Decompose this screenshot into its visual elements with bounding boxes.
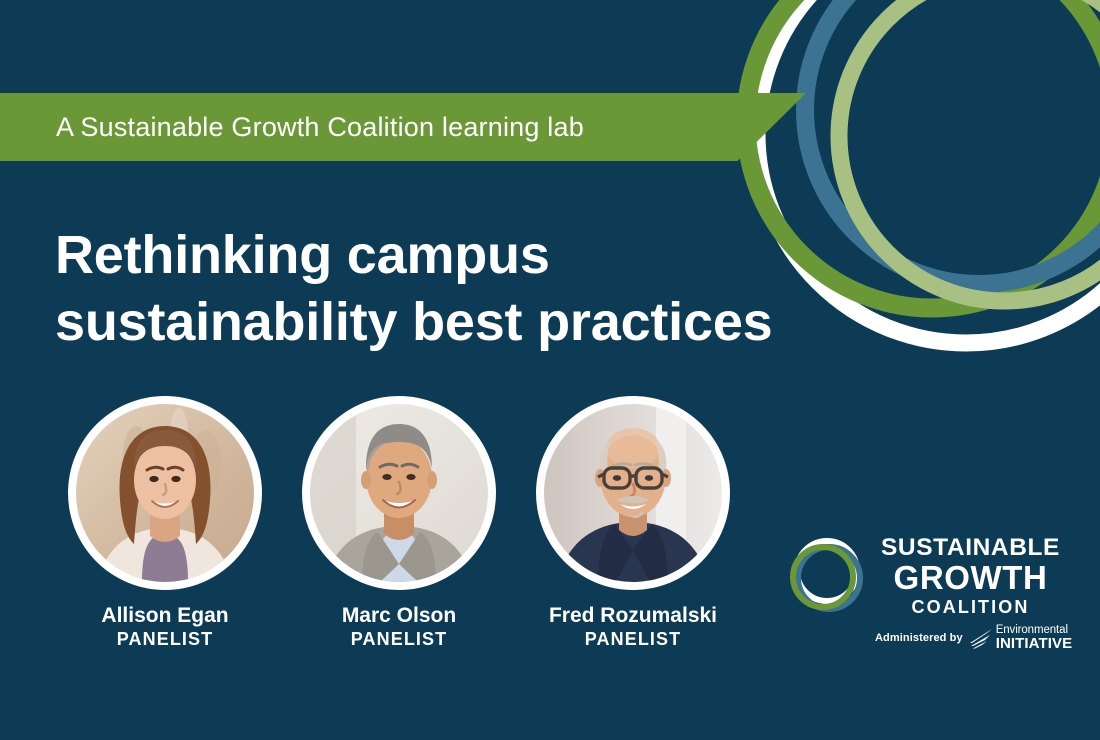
- eyebrow-text: A Sustainable Growth Coalition learning …: [56, 112, 584, 143]
- administered-by-row: Administered by Environmental INITIATIVE: [875, 625, 1072, 651]
- panelist-list: Allison Egan PANELIST: [48, 396, 750, 650]
- panelist-item: Fred Rozumalski PANELIST: [516, 396, 750, 650]
- panelist-role: PANELIST: [585, 630, 681, 650]
- sgc-word-coalition: COALITION: [878, 597, 1063, 619]
- eyebrow-banner: A Sustainable Growth Coalition learning …: [0, 93, 806, 161]
- avatar: [302, 396, 496, 590]
- panelist-role: PANELIST: [351, 630, 447, 650]
- avatar: [68, 396, 262, 590]
- environmental-initiative-swoosh-icon: [969, 627, 993, 649]
- sgc-word-growth: GROWTH: [878, 561, 1063, 596]
- event-promo-card: A Sustainable Growth Coalition learning …: [0, 0, 1100, 740]
- sgc-word-sustainable: SUSTAINABLE: [878, 535, 1063, 561]
- headline-line-2: sustainability best practices: [55, 289, 935, 356]
- portrait-fred-rozumalski-image: [544, 404, 722, 582]
- portrait-allison-egan-image: [76, 404, 254, 582]
- environmental-initiative-logo: Environmental INITIATIVE: [969, 625, 1073, 651]
- panelist-name: Fred Rozumalski: [549, 604, 717, 627]
- sgc-wordmark: SUSTAINABLE GROWTH COALITION: [878, 535, 1063, 618]
- sustainable-growth-coalition-logo: SUSTAINABLE GROWTH COALITION Administere…: [780, 527, 1065, 647]
- panelist-role: PANELIST: [117, 630, 213, 650]
- administered-by-label: Administered by: [875, 632, 963, 644]
- panelist-item: Allison Egan PANELIST: [48, 396, 282, 650]
- ei-word-initiative: INITIATIVE: [996, 636, 1073, 651]
- avatar: [536, 396, 730, 590]
- panelist-name: Marc Olson: [342, 604, 456, 627]
- portrait-marc-olson-image: [310, 404, 488, 582]
- headline-line-1: Rethinking campus: [55, 222, 935, 289]
- sgc-rings-mark: [780, 529, 872, 621]
- panelist-item: Marc Olson PANELIST: [282, 396, 516, 650]
- page-title: Rethinking campus sustainability best pr…: [55, 222, 935, 356]
- panelist-name: Allison Egan: [101, 604, 228, 627]
